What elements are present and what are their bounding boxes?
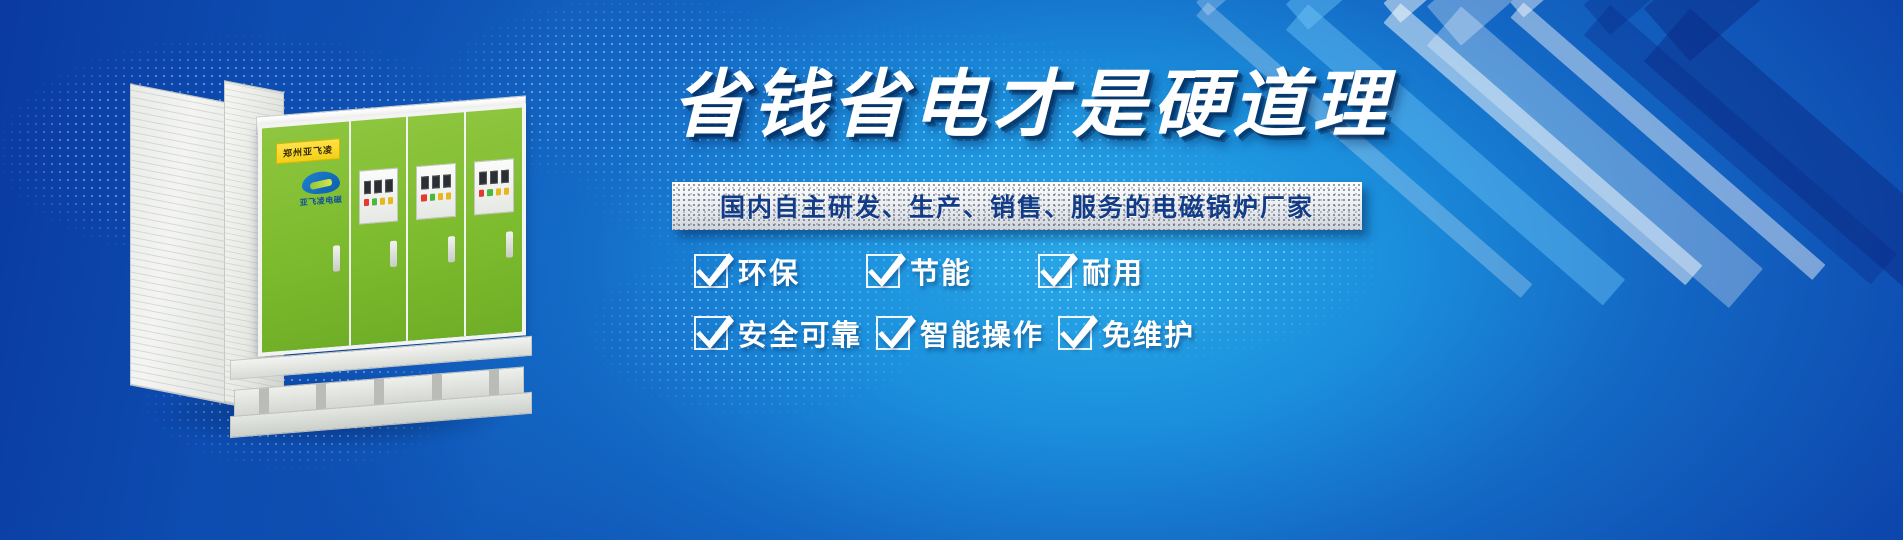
- cabinet-green-door-row: 郑州亚飞凌 亚飞凌电磁: [258, 103, 526, 357]
- chevron-stripe-dark: [1584, 5, 1897, 284]
- panel-displays: [475, 159, 513, 185]
- chevron-stripe: [1510, 2, 1825, 280]
- feature-item: 耐用: [1038, 250, 1144, 292]
- cabinet-door-branded: 郑州亚飞凌 亚飞凌电磁: [262, 121, 351, 352]
- chevron-stripe: [1196, 2, 1532, 298]
- chevron-stripe-dark: [1644, 0, 1903, 61]
- feature-item: 免维护: [1058, 312, 1195, 354]
- chevron-stripe-dark: [1644, 9, 1903, 311]
- feature-item: 安全可靠: [694, 312, 862, 354]
- chevron-stripe: [1510, 0, 1825, 18]
- panel-displays: [360, 169, 398, 195]
- chevron-stripe: [1286, 0, 1625, 30]
- product-logo: 亚飞凌电磁: [284, 169, 358, 210]
- logo-mark-icon: [302, 170, 340, 195]
- check-icon: [876, 316, 910, 350]
- chevron-stripe: [1383, 3, 1702, 285]
- cabinet-door-control-3: [408, 112, 466, 341]
- feature-item: 智能操作: [876, 312, 1044, 354]
- chevron-decoration-group: [1392, 0, 1903, 540]
- panel-displays: [417, 164, 455, 190]
- door-handle: [448, 236, 455, 263]
- check-icon: [1038, 254, 1072, 288]
- feature-item: 节能: [866, 250, 972, 292]
- feature-label: 节能: [910, 250, 972, 292]
- promo-banner: 郑州亚飞凌 亚飞凌电磁: [0, 0, 1903, 540]
- subtitle-plate: 国内自主研发、生产、销售、服务的电磁锅炉厂家: [672, 182, 1362, 230]
- feature-label: 安全可靠: [738, 312, 862, 354]
- feature-label: 智能操作: [920, 312, 1044, 354]
- door-handle: [506, 231, 513, 258]
- chevron-stripe: [1427, 6, 1763, 308]
- cabinet-door-control-2: [351, 117, 409, 346]
- chevron-stripe-dark: [1584, 0, 1897, 35]
- brand-tag-label: 郑州亚飞凌: [276, 138, 340, 164]
- door-handle: [333, 245, 340, 272]
- headline-text: 省钱省电才是硬道理: [672, 68, 1392, 142]
- control-panel: [359, 167, 399, 224]
- feature-label: 免维护: [1102, 312, 1195, 354]
- logo-text: 亚飞凌电磁: [284, 193, 358, 210]
- control-panel: [474, 158, 514, 215]
- cabinet-door-control-4: [466, 108, 522, 336]
- feature-item: 环保: [694, 250, 800, 292]
- chevron-stripe: [1196, 0, 1532, 16]
- door-handle: [390, 241, 397, 268]
- check-icon: [1058, 316, 1092, 350]
- chevron-stripe: [1383, 0, 1702, 23]
- check-icon: [694, 254, 728, 288]
- subtitle-text: 国内自主研发、生产、销售、服务的电磁锅炉厂家: [672, 182, 1362, 230]
- feature-row-1: 环保 节能 耐用: [694, 250, 1214, 292]
- chevron-stripe: [1427, 0, 1763, 46]
- control-panel: [416, 163, 456, 220]
- check-icon: [866, 254, 900, 288]
- product-image-electromagnetic-boiler: 郑州亚飞凌 亚飞凌电磁: [118, 78, 538, 458]
- feature-label: 耐用: [1082, 250, 1144, 292]
- feature-row-2: 安全可靠 智能操作 免维护: [694, 312, 1214, 354]
- chevron-stripe: [1286, 4, 1625, 305]
- feature-checklist: 环保 节能 耐用 安全可靠: [694, 250, 1214, 354]
- check-icon: [694, 316, 728, 350]
- feature-label: 环保: [738, 250, 800, 292]
